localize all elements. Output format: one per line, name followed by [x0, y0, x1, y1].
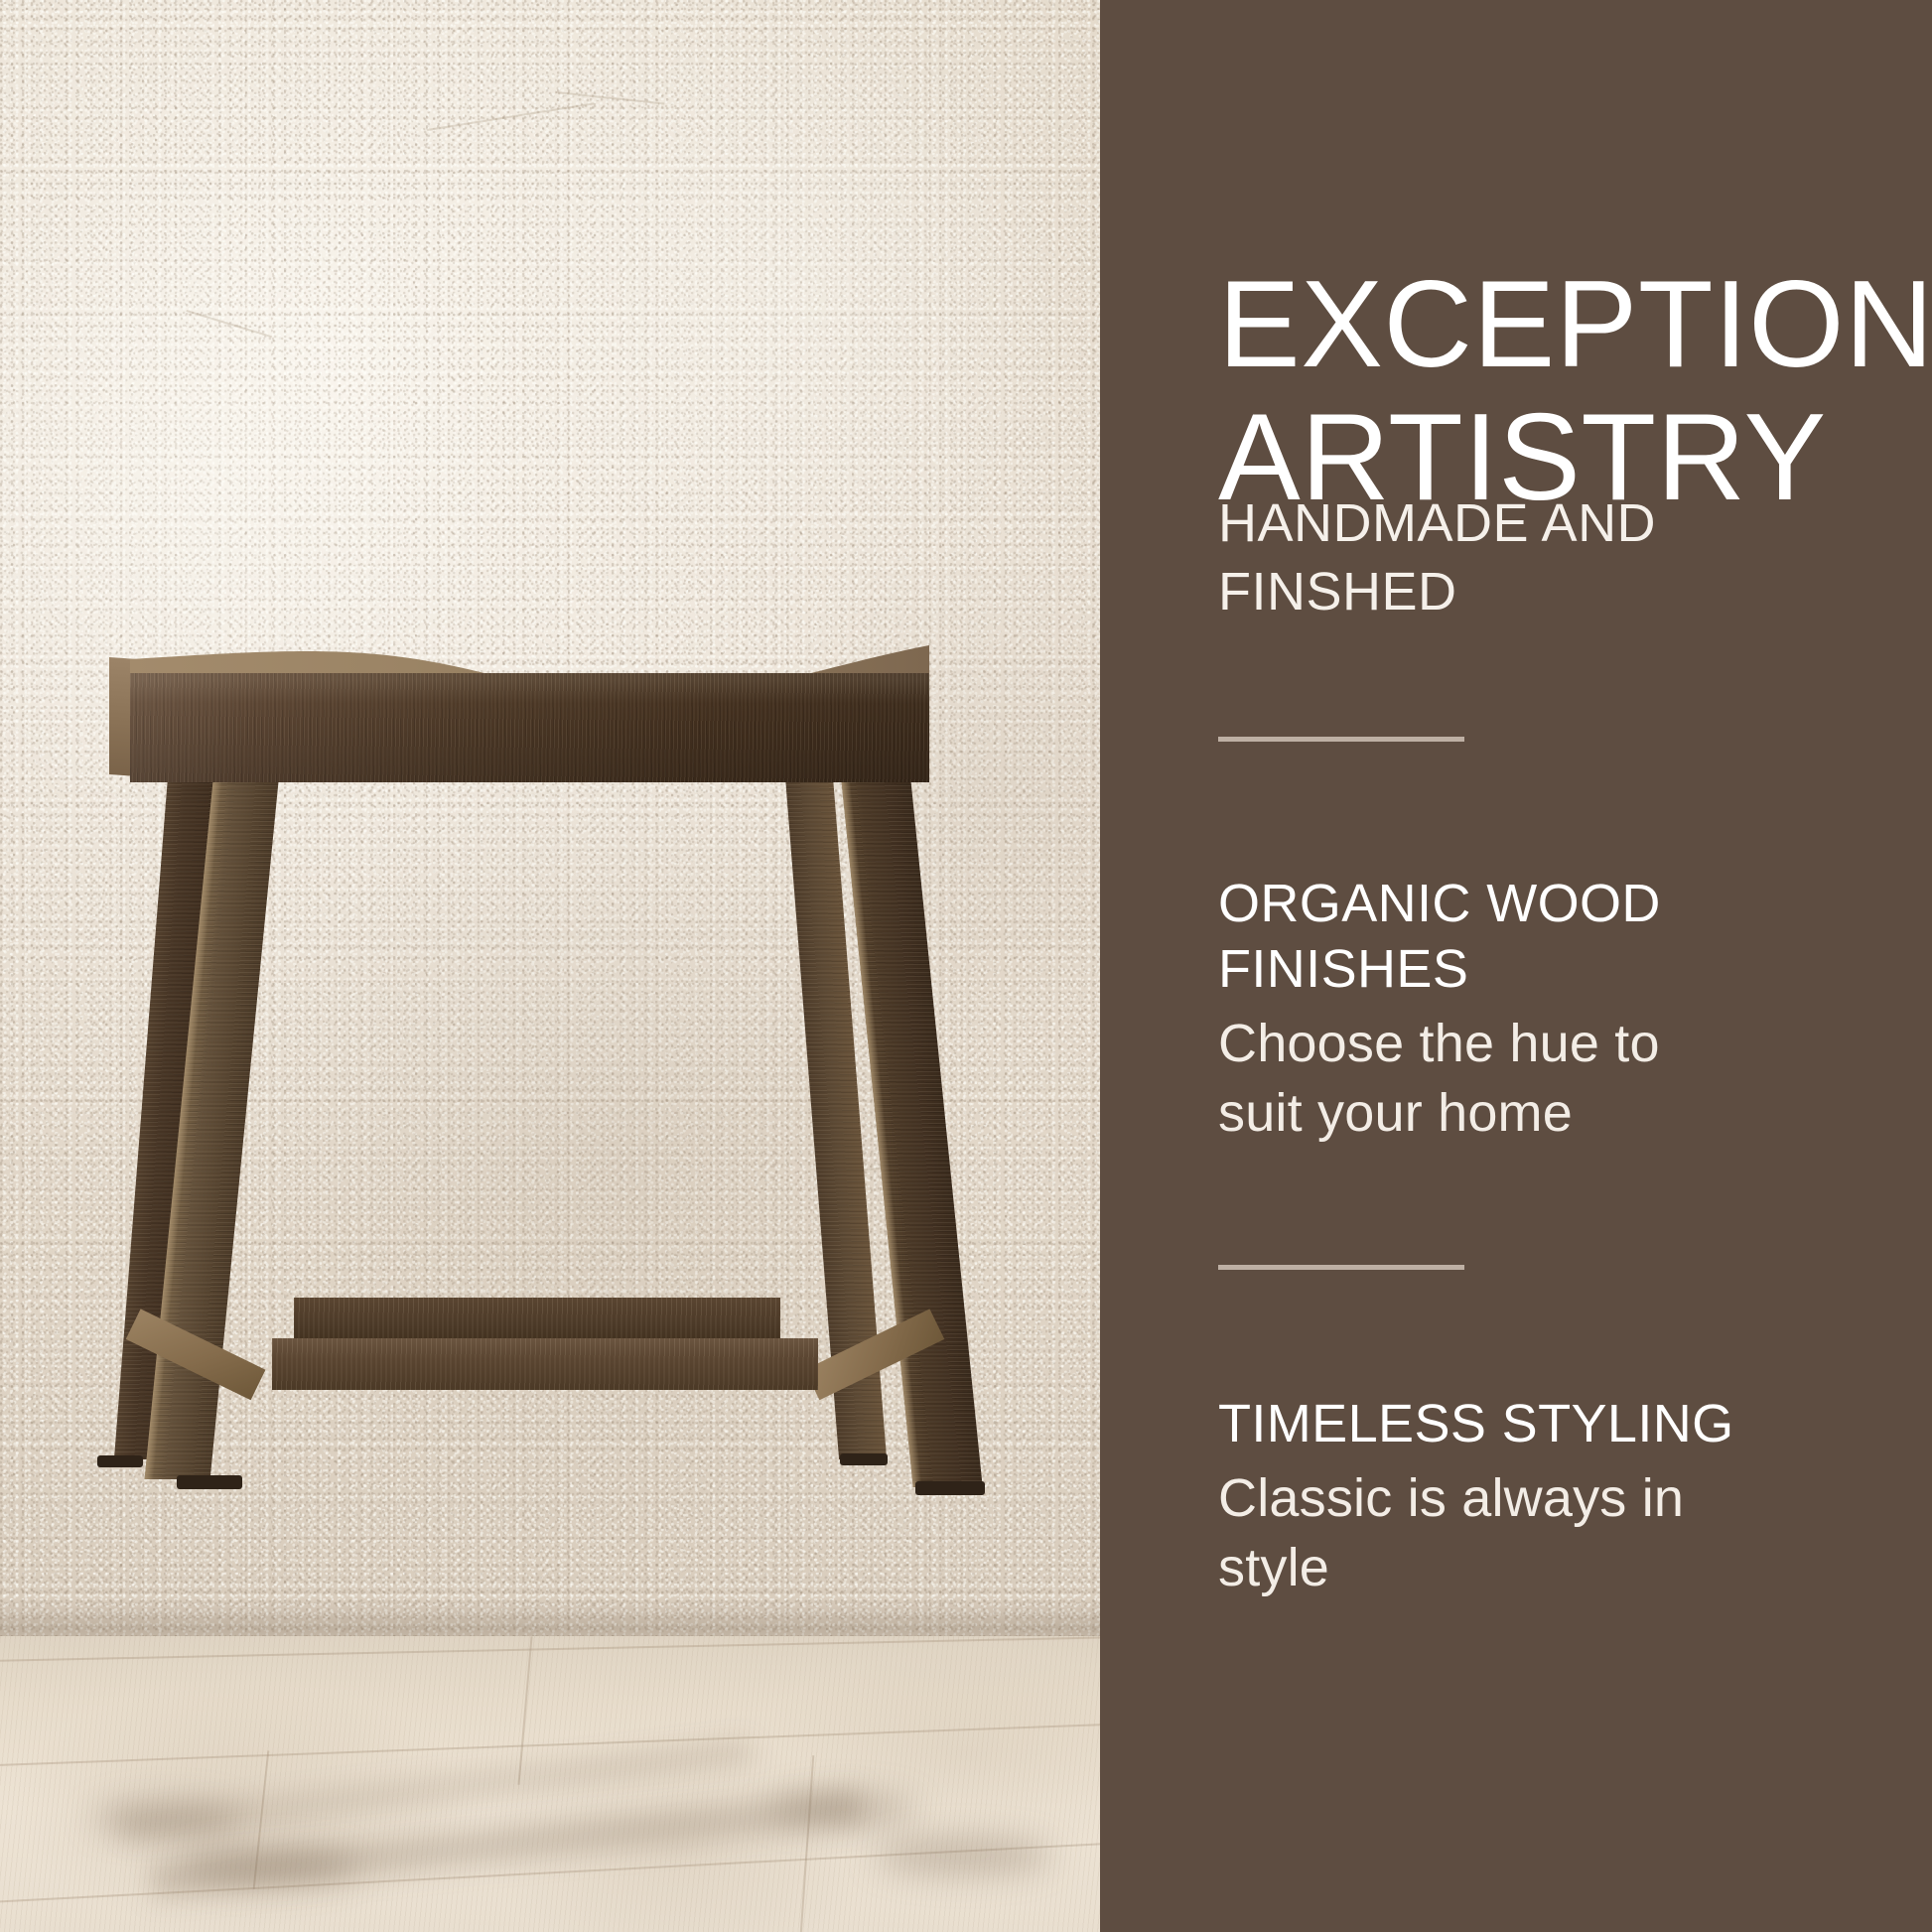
stool-foot-glide	[177, 1475, 242, 1489]
feature-heading: TIMELESS STYLING	[1218, 1392, 1913, 1457]
page-subtitle: HANDMADE AND FINSHED	[1218, 489, 1893, 626]
stool-stretcher-rear	[294, 1298, 780, 1341]
stool-foot-glide	[915, 1481, 985, 1495]
promo-canvas: EXCEPTIONAL ARTISTRY HANDMADE AND FINSHE…	[0, 0, 1932, 1932]
stool-foot-glide	[840, 1453, 888, 1465]
feature-heading: ORGANIC WOOD FINISHES	[1218, 872, 1913, 1003]
feature-panel-content: EXCEPTIONAL ARTISTRY HANDMADE AND FINSHE…	[1218, 0, 1913, 1932]
wooden-bar-stool	[0, 0, 1100, 1932]
section-divider-1	[1218, 737, 1464, 742]
feature-item-timeless-styling: TIMELESS STYLING Classic is always in st…	[1218, 1392, 1913, 1602]
product-photo	[0, 0, 1100, 1932]
feature-body: Classic is always in style	[1218, 1463, 1913, 1602]
section-divider-2	[1218, 1265, 1464, 1270]
page-title: EXCEPTIONAL ARTISTRY	[1218, 259, 1913, 525]
stool-foot-glide	[97, 1455, 143, 1467]
feature-panel: EXCEPTIONAL ARTISTRY HANDMADE AND FINSHE…	[1100, 0, 1932, 1932]
feature-item-organic-wood-finishes: ORGANIC WOOD FINISHES Choose the hue to …	[1218, 872, 1913, 1148]
stool-stretcher-front	[272, 1338, 818, 1390]
stool-seat-front-face	[130, 673, 929, 782]
feature-body: Choose the hue to suit your home	[1218, 1009, 1913, 1148]
